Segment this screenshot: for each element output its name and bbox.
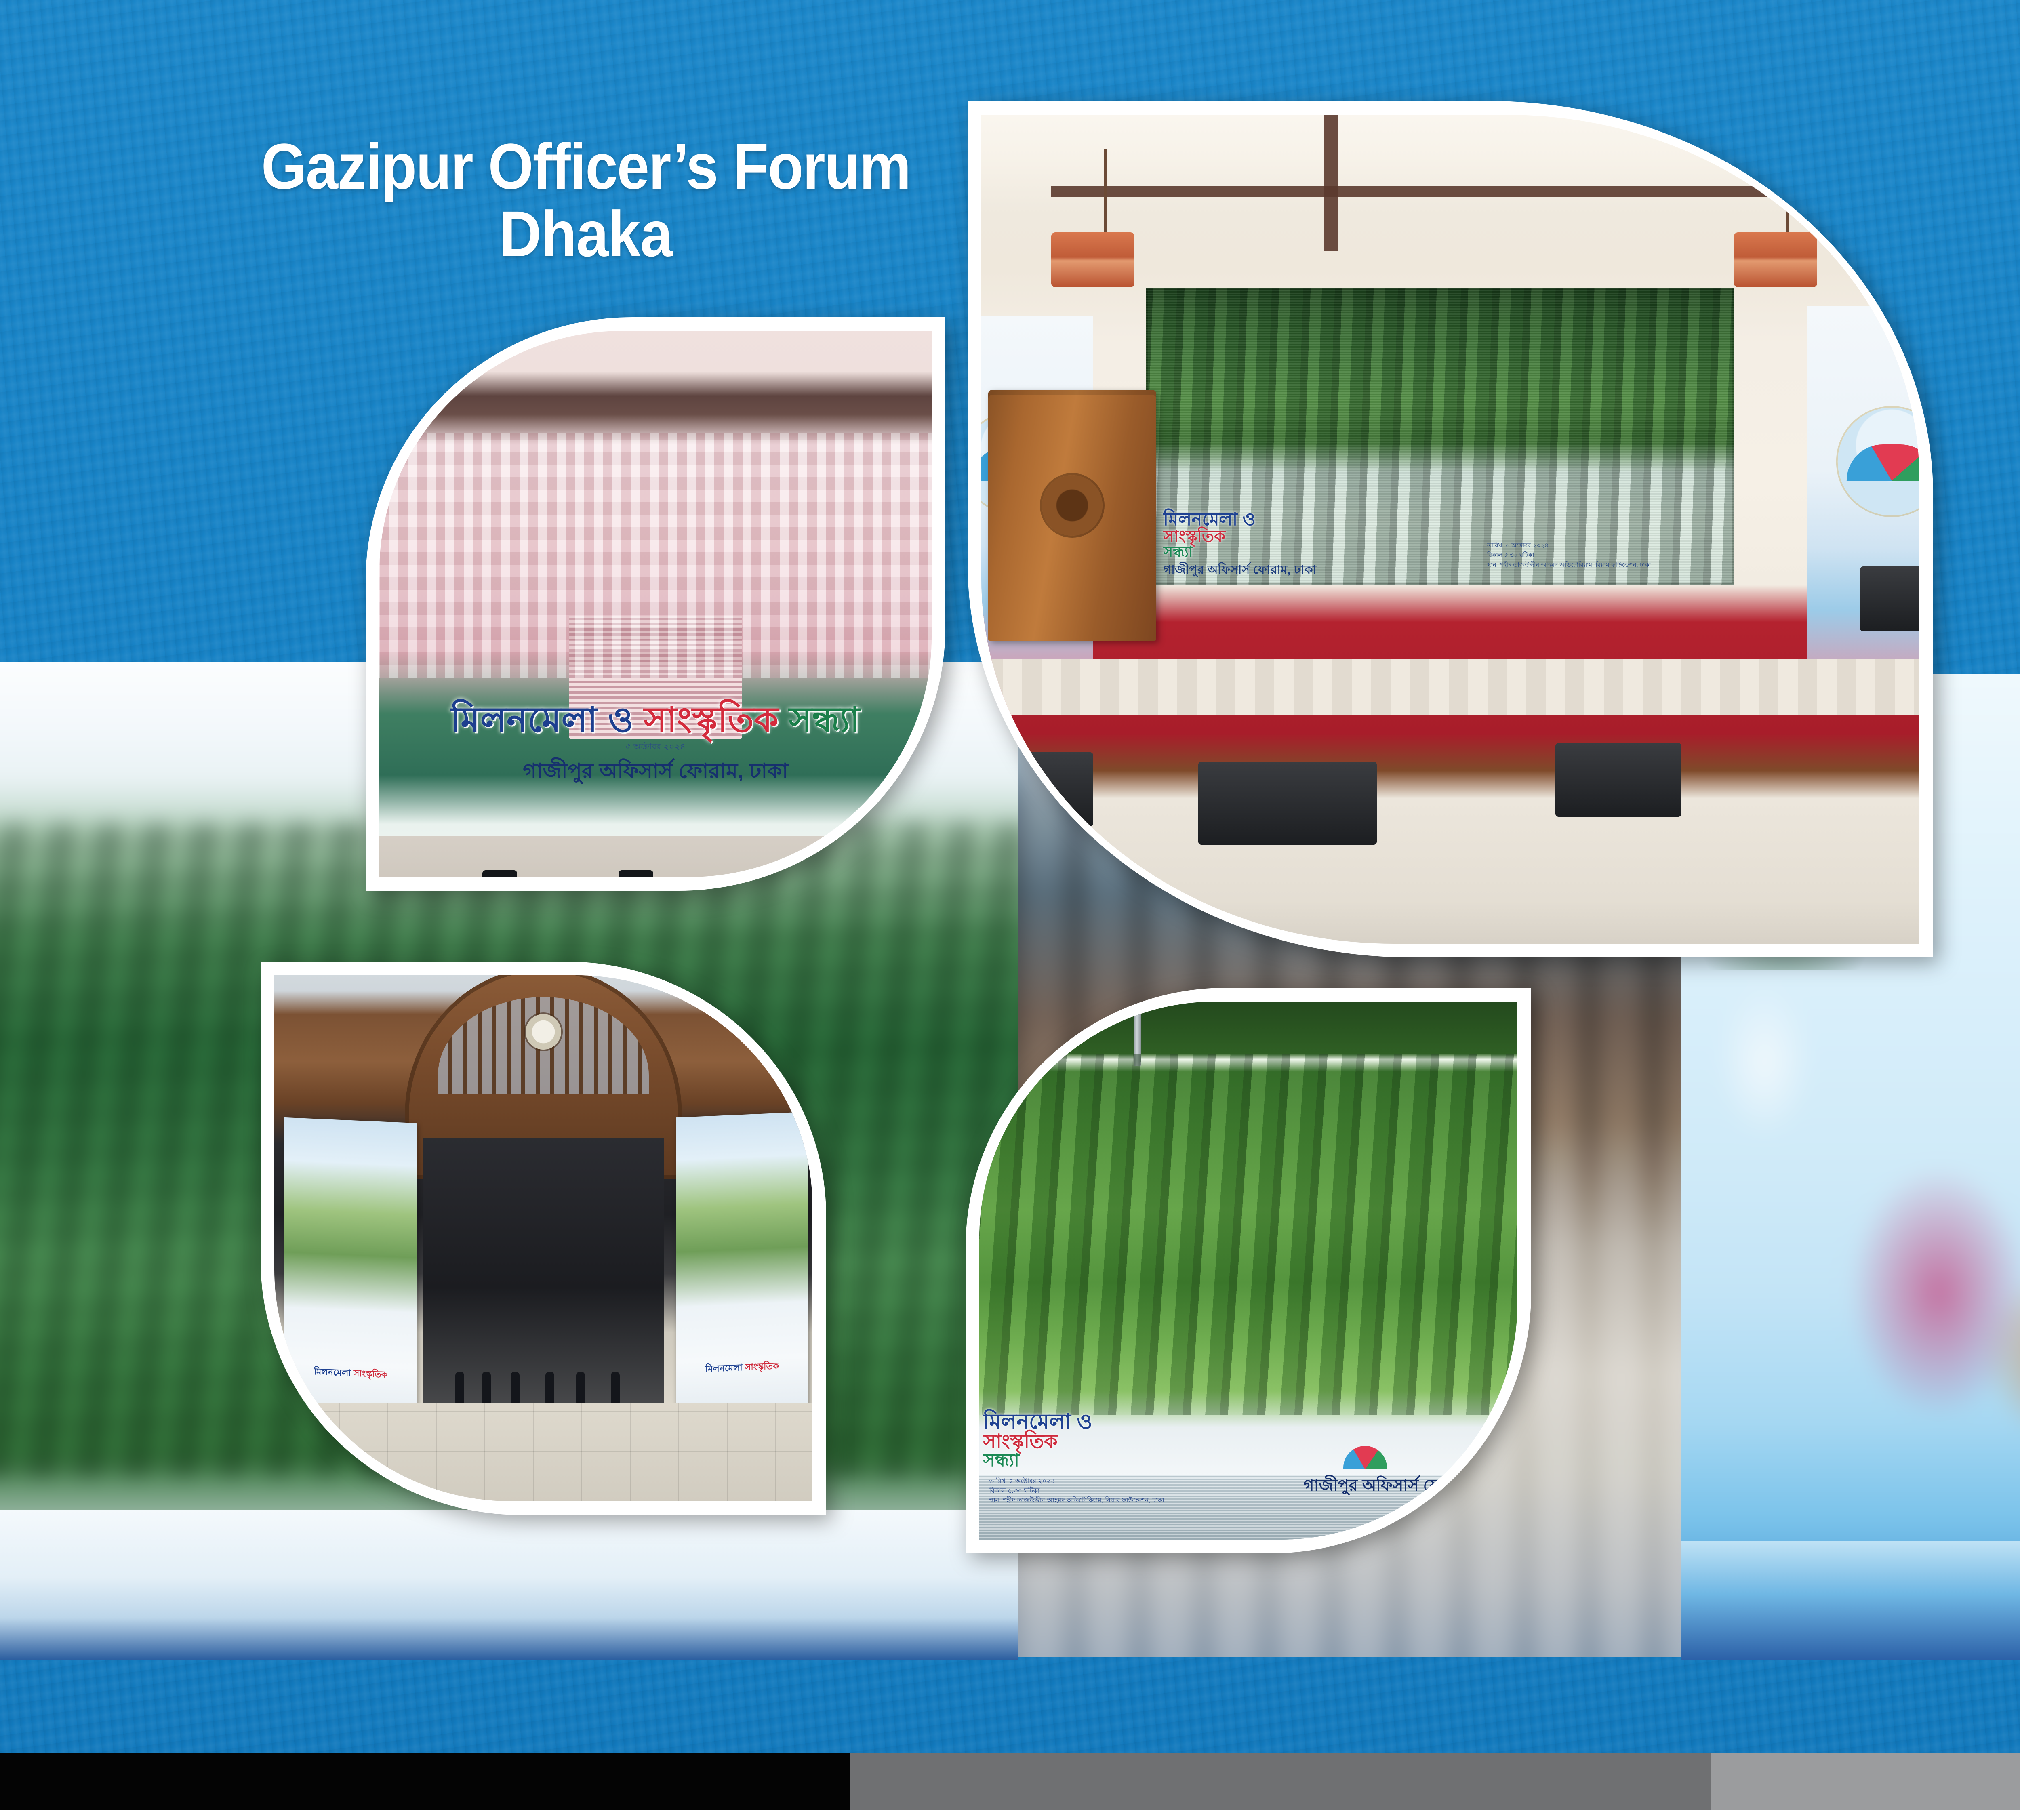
photo-frame-auditorium-stage[interactable]: মিলনমেলা ও সাংস্কৃতিক সন্ধ্যা গাজীপুর অফ…: [968, 101, 1933, 957]
photo-event-backdrop-banner: মিলনমেলা ও সাংস্কৃতিক সন্ধ্যা ৫ অক্টোবর …: [379, 331, 932, 877]
billboard-title-part2: সাংস্কৃতিক: [983, 1432, 1248, 1452]
ceiling-lamp-right: [1734, 232, 1817, 287]
forum-crest-icon-billboard: [1343, 1446, 1387, 1469]
biam-emblem-icon: [526, 1014, 561, 1050]
light-pole: [1134, 1002, 1141, 1066]
billboard-date-value: ৫ অক্টোবর ২০২৪: [1009, 1478, 1055, 1485]
standee-right-title2: সাংস্কৃতিক: [745, 1361, 779, 1372]
ceiling-lamp-left: [1051, 232, 1134, 287]
banner-title-part3: সন্ধ্যা: [789, 701, 861, 739]
led-title-conj: ও: [1242, 509, 1255, 529]
standee-right-title1: মিলনমেলা: [705, 1362, 743, 1374]
title-line-1: Gazipur Officer’s Forum: [229, 133, 942, 199]
billboard-time-value: বিকাল ৫.৩০ ঘটিকা: [989, 1486, 1164, 1496]
billboard-organisation: গাজীপুর অফিসার্স ফোরাম, ঢাকা: [1303, 1473, 1507, 1500]
stage-monitor-right: [1555, 743, 1681, 817]
billboard-venue-label: স্থান: [989, 1497, 999, 1504]
poster-title: Gazipur Officer’s Forum Dhaka: [190, 133, 982, 269]
led-organisation: গাজীপুর অফিসার্স ফোরাম, ঢাকা: [1164, 564, 1493, 576]
banner-title-part1: মিলনমেলা: [451, 701, 598, 739]
billboard-title-conj: ও: [1077, 1410, 1092, 1433]
podium-crest-icon: [1042, 475, 1103, 536]
stage-monitor-center: [1198, 762, 1377, 845]
photo-venue-entrance: মিলনমেলা সাংস্কৃতিক মিলনমেলা সাংস্কৃতিক: [274, 975, 812, 1501]
led-venue-label: স্থান: [1487, 562, 1496, 568]
photo-auditorium-stage: মিলনমেলা ও সাংস্কৃতিক সন্ধ্যা গাজীপুর অফ…: [981, 115, 1919, 944]
speaker-podium: [988, 390, 1156, 641]
billboard-date-label: তারিখ: [989, 1478, 1006, 1485]
banner-date-value: ৫ অক্টোবর ২০২৪: [625, 742, 686, 751]
stage-light-row: [379, 836, 932, 877]
banner-title-part2: সাংস্কৃতিক: [644, 701, 779, 739]
led-venue-value: শহীদ তাজউদ্দীন আহমদ অডিটোরিয়াম, বিয়াম …: [1500, 562, 1651, 568]
led-display-screen: মিলনমেলা ও সাংস্কৃতিক সন্ধ্যা গাজীপুর অফ…: [1146, 288, 1734, 585]
led-title-part2: সাংস্কৃতিক: [1164, 528, 1493, 545]
guests-silhouettes: [447, 1273, 652, 1403]
led-title-part3: সন্ধ্যা: [1164, 545, 1493, 559]
entrance-floor: [274, 1403, 812, 1501]
photo-outdoor-billboard: মিলনমেলা ও সাংস্কৃতিক সন্ধ্যা তারিখ ৫ অক…: [979, 1002, 1517, 1540]
billboard-title-part3: সন্ধ্যা: [983, 1452, 1248, 1469]
photo-frame-venue-entrance[interactable]: মিলনমেলা সাংস্কৃতিক মিলনমেলা সাংস্কৃতিক: [261, 962, 826, 1515]
led-time-value: বিকাল ৫.৩০ ঘটিকা: [1487, 551, 1699, 560]
photo-frame-outdoor-billboard[interactable]: মিলনমেলা ও সাংস্কৃতিক সন্ধ্যা তারিখ ৫ অক…: [966, 988, 1531, 1553]
standee-left-title2: সাংস্কৃতিক: [353, 1368, 387, 1380]
led-date-value: ৫ অক্টোবর ২০২৪: [1506, 542, 1549, 549]
led-date-label: তারিখ: [1487, 542, 1502, 549]
standee-banner-left: মিলনমেলা সাংস্কৃতিক: [284, 1117, 417, 1430]
banner-title-conj: ও: [608, 701, 634, 739]
calibration-bar-light-gray: [1711, 1753, 2020, 1810]
led-title-part1: মিলনমেলা: [1164, 509, 1238, 529]
standee-banner-right: মিলনমেলা সাংস্কৃতিক: [676, 1112, 808, 1424]
photo-frame-event-backdrop-banner[interactable]: মিলনমেলা ও সাংস্কৃতিক সন্ধ্যা ৫ অক্টোবর …: [366, 317, 945, 891]
stage-monitor-left: [981, 752, 1093, 827]
calibration-bar-mid-gray: [850, 1753, 1711, 1810]
standee-left-title1: মিলনমেলা: [314, 1366, 351, 1378]
banner-organisation: গাজীপুর অফিসার্স ফোরাম, ঢাকা: [396, 760, 915, 783]
calibration-bar-black: [0, 1753, 850, 1810]
poster-canvas: মিলনমেলা ও সাংস্কৃতিক সন্ধ্যা ৫ অক্টোবর …: [0, 0, 2020, 1820]
print-calibration-bars: [0, 1753, 2020, 1810]
wall-speaker-right: [1860, 566, 1919, 631]
billboard-venue-value: শহীদ তাজউদ্দীন আহমদ অডিটোরিয়াম, বিয়াম …: [1003, 1497, 1164, 1504]
billboard-title-part1: মিলনমেলা: [983, 1410, 1071, 1433]
side-banner-right: [1807, 306, 1919, 696]
title-line-2: Dhaka: [229, 199, 942, 269]
